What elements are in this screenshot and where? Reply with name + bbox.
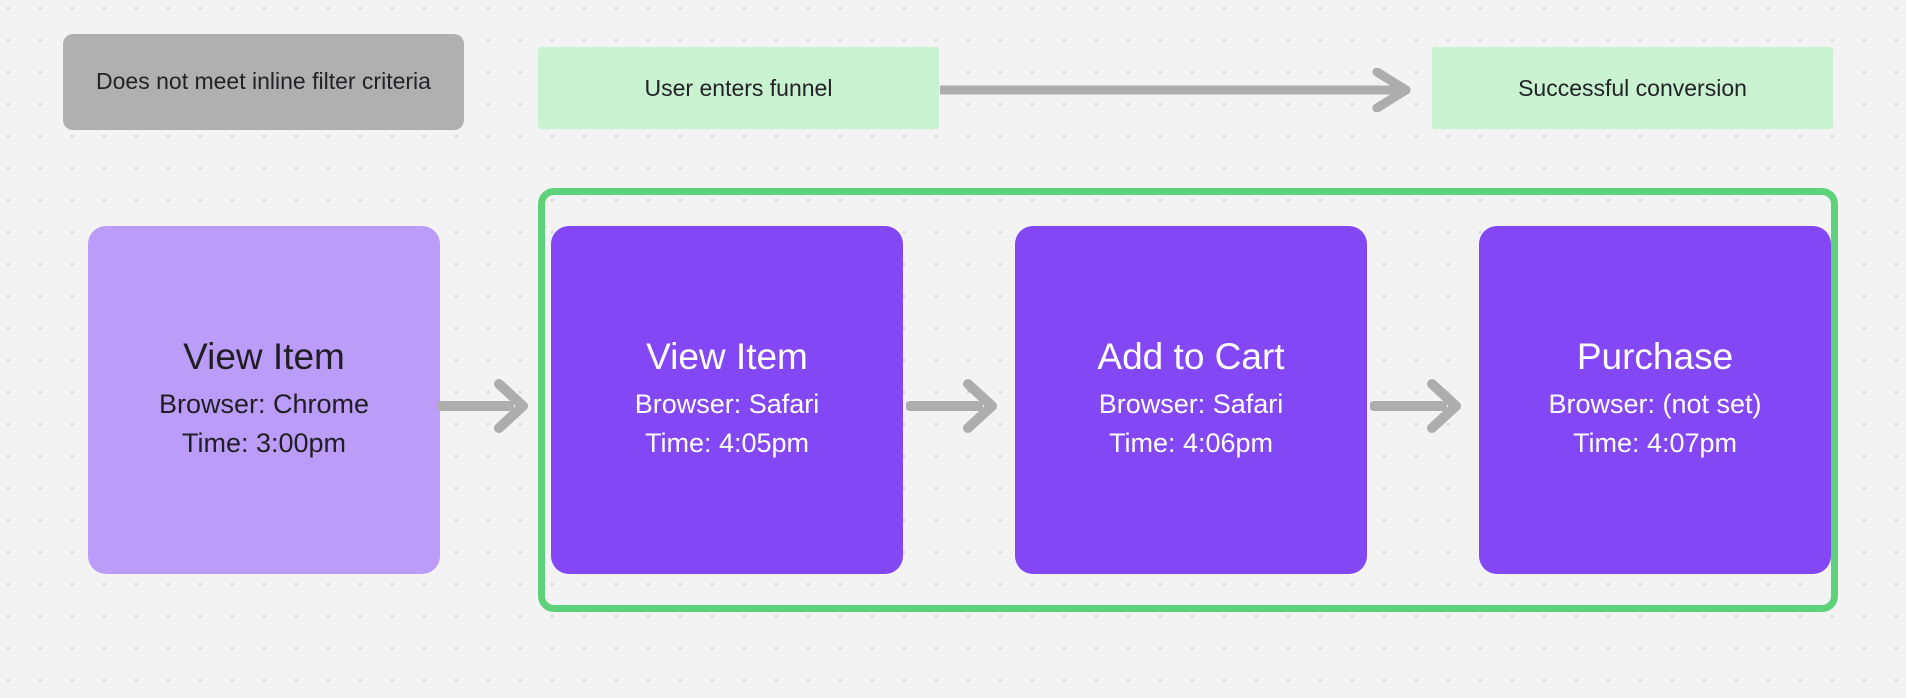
event-card-title: View Item — [646, 336, 808, 379]
event-card-browser: Browser: Safari — [1099, 385, 1284, 425]
event-card-time: Time: 4:06pm — [1109, 424, 1273, 464]
legend-user-enters-funnel[interactable]: User enters funnel — [538, 47, 939, 129]
event-card-step-3[interactable]: Purchase Browser: (not set) Time: 4:07pm — [1479, 226, 1831, 574]
event-card-step-2[interactable]: Add to Cart Browser: Safari Time: 4:06pm — [1015, 226, 1367, 574]
flow-arrow-3-icon — [1370, 378, 1468, 434]
legend-successful-conversion[interactable]: Successful conversion — [1432, 47, 1833, 129]
event-card-title: Add to Cart — [1097, 336, 1284, 379]
event-card-step-1[interactable]: View Item Browser: Safari Time: 4:05pm — [551, 226, 903, 574]
event-card-excluded[interactable]: View Item Browser: Chrome Time: 3:00pm — [88, 226, 440, 574]
legend-connector-arrow-icon — [940, 68, 1432, 112]
legend-does-not-meet-filter[interactable]: Does not meet inline filter criteria — [63, 34, 464, 130]
event-card-time: Time: 4:07pm — [1573, 424, 1737, 464]
event-card-title: Purchase — [1577, 336, 1733, 379]
event-card-browser: Browser: Chrome — [159, 385, 369, 425]
event-card-browser: Browser: (not set) — [1548, 385, 1761, 425]
flow-arrow-1-icon — [437, 378, 535, 434]
event-card-browser: Browser: Safari — [635, 385, 820, 425]
event-card-title: View Item — [183, 336, 345, 379]
event-card-time: Time: 4:05pm — [645, 424, 809, 464]
event-card-time: Time: 3:00pm — [182, 424, 346, 464]
flow-arrow-2-icon — [906, 378, 1004, 434]
diagram-canvas: Does not meet inline filter criteria Use… — [0, 0, 1906, 698]
